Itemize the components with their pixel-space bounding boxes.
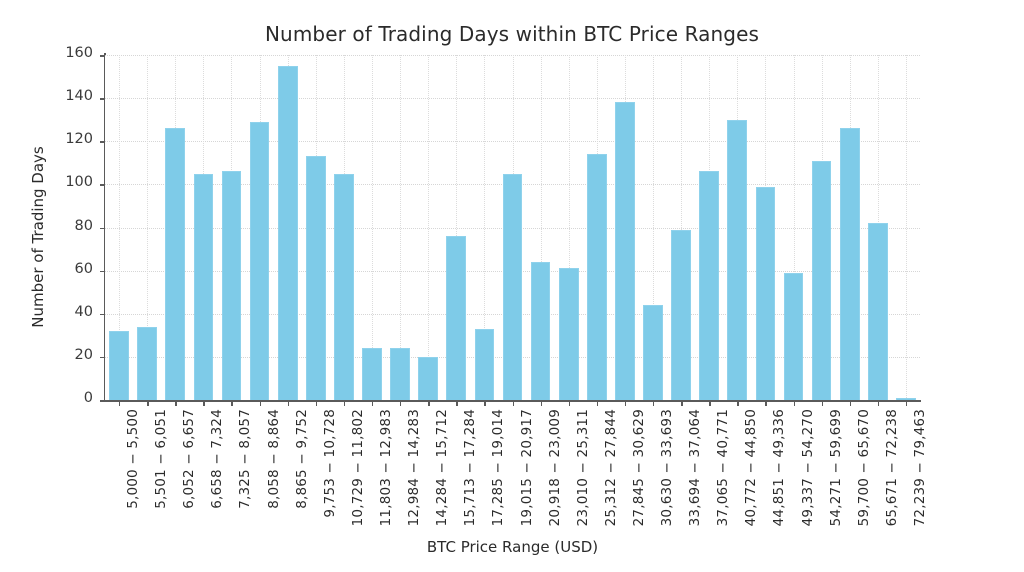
x-axis-tick-mark xyxy=(625,401,626,406)
x-axis-tick-mark xyxy=(765,401,766,406)
bar[interactable] xyxy=(306,156,326,400)
bar[interactable] xyxy=(222,171,242,400)
chart-title: Number of Trading Days within BTC Price … xyxy=(0,22,1024,46)
x-axis-tick-label: 65,671 − 72,238 xyxy=(884,409,900,526)
x-axis-tick-label: 27,845 − 30,629 xyxy=(631,409,647,526)
x-axis-tick-mark xyxy=(316,401,317,406)
bar[interactable] xyxy=(194,174,214,400)
x-axis-tick-mark xyxy=(119,401,120,406)
x-axis-tick-label: 9,753 − 10,728 xyxy=(322,409,338,518)
bar[interactable] xyxy=(165,128,185,400)
y-axis-tick-mark xyxy=(100,357,105,359)
x-axis-tick-mark xyxy=(484,401,485,406)
gridline-vertical xyxy=(906,55,907,400)
x-axis-tick-mark xyxy=(203,401,204,406)
bar[interactable] xyxy=(615,102,635,400)
y-axis-tick-label: 140 xyxy=(65,88,93,104)
x-axis-tick-mark xyxy=(822,401,823,406)
x-axis-tick-label: 37,065 − 40,771 xyxy=(715,409,731,526)
y-axis-tick-label: 80 xyxy=(75,218,93,234)
x-axis-tick-mark xyxy=(428,401,429,406)
x-axis-tick-mark xyxy=(231,401,232,406)
bar[interactable] xyxy=(334,174,354,400)
x-axis-tick-label: 17,285 − 19,014 xyxy=(490,409,506,526)
bar[interactable] xyxy=(643,305,663,400)
x-axis-tick-mark xyxy=(513,401,514,406)
y-axis-tick-mark xyxy=(100,141,105,143)
x-axis-tick-label: 5,501 − 6,051 xyxy=(153,409,169,509)
x-axis-tick-mark xyxy=(400,401,401,406)
y-axis-tick-mark xyxy=(100,228,105,230)
x-axis-tick-mark xyxy=(906,401,907,406)
y-axis-tick-mark xyxy=(100,314,105,316)
bar[interactable] xyxy=(531,262,551,400)
x-axis-tick-label: 30,630 − 33,693 xyxy=(659,409,675,526)
bar[interactable] xyxy=(503,174,523,400)
x-axis-tick-mark xyxy=(737,401,738,406)
y-axis-tick-label: 100 xyxy=(65,174,93,190)
bar[interactable] xyxy=(868,223,888,400)
bar[interactable] xyxy=(587,154,607,400)
bar[interactable] xyxy=(896,398,916,400)
x-axis-tick-mark xyxy=(456,401,457,406)
y-axis-tick-mark xyxy=(100,271,105,273)
y-axis-tick-label: 20 xyxy=(75,347,93,363)
bar[interactable] xyxy=(475,329,495,400)
x-axis-tick-mark xyxy=(878,401,879,406)
y-axis-tick-mark xyxy=(100,184,105,186)
x-axis-tick-label: 6,658 − 7,324 xyxy=(209,409,225,509)
x-axis-tick-label: 25,312 − 27,844 xyxy=(603,409,619,526)
x-axis-tick-label: 14,284 − 15,712 xyxy=(434,409,450,526)
y-axis-tick-mark xyxy=(100,400,105,402)
x-axis-tick-label: 8,865 − 9,752 xyxy=(294,409,310,509)
bar[interactable] xyxy=(756,187,776,400)
y-axis-title: Number of Trading Days xyxy=(29,137,47,337)
y-axis-tick-label: 120 xyxy=(65,131,93,147)
bar[interactable] xyxy=(109,331,129,400)
gridline-vertical xyxy=(428,55,429,400)
bar[interactable] xyxy=(727,120,747,400)
y-axis-tick-label: 160 xyxy=(65,45,93,61)
x-axis-tick-label: 54,271 − 59,699 xyxy=(828,409,844,526)
x-axis-tick-label: 8,058 − 8,864 xyxy=(266,409,282,509)
x-axis-tick-mark xyxy=(372,401,373,406)
x-axis-title: BTC Price Range (USD) xyxy=(105,538,920,556)
x-axis-tick-label: 33,694 − 37,064 xyxy=(687,409,703,526)
x-axis-tick-label: 12,984 − 14,283 xyxy=(406,409,422,526)
x-axis-tick-label: 23,010 − 25,311 xyxy=(575,409,591,526)
plot-area xyxy=(105,55,920,400)
x-axis-tick-mark xyxy=(653,401,654,406)
bar[interactable] xyxy=(671,230,691,400)
x-axis-tick-mark xyxy=(709,401,710,406)
x-axis-tick-label: 40,772 − 44,850 xyxy=(743,409,759,526)
bar[interactable] xyxy=(699,171,719,400)
bar[interactable] xyxy=(559,268,579,400)
x-axis-tick-label: 7,325 − 8,057 xyxy=(237,409,253,509)
bar[interactable] xyxy=(250,122,270,400)
x-axis-tick-label: 19,015 − 20,917 xyxy=(519,409,535,526)
x-axis-tick-mark xyxy=(288,401,289,406)
x-axis-tick-label: 6,052 − 6,657 xyxy=(181,409,197,509)
x-axis-tick-mark xyxy=(850,401,851,406)
x-axis-tick-label: 20,918 − 23,009 xyxy=(547,409,563,526)
x-axis-tick-label: 59,700 − 65,670 xyxy=(856,409,872,526)
x-axis-tick-mark xyxy=(569,401,570,406)
bar[interactable] xyxy=(137,327,157,400)
bar[interactable] xyxy=(278,66,298,400)
bar[interactable] xyxy=(390,348,410,400)
x-axis-tick-mark xyxy=(794,401,795,406)
bar[interactable] xyxy=(784,273,804,400)
x-axis-tick-label: 49,337 − 54,270 xyxy=(800,409,816,526)
x-axis-tick-mark xyxy=(260,401,261,406)
y-axis-tick-mark xyxy=(100,98,105,100)
bar[interactable] xyxy=(446,236,466,400)
x-axis-tick-label: 15,713 − 17,284 xyxy=(462,409,478,526)
y-axis-tick-label: 60 xyxy=(75,261,93,277)
y-axis-tick-label: 40 xyxy=(75,304,93,320)
x-axis-tick-label: 10,729 − 11,802 xyxy=(350,409,366,526)
y-axis-tick-mark xyxy=(100,55,105,57)
x-axis-tick-mark xyxy=(681,401,682,406)
bar[interactable] xyxy=(840,128,860,400)
x-axis-tick-label: 11,803 − 12,983 xyxy=(378,409,394,526)
x-axis-tick-label: 72,239 − 79,463 xyxy=(912,409,928,526)
bar[interactable] xyxy=(812,161,832,400)
bar[interactable] xyxy=(418,357,438,400)
x-axis-tick-mark xyxy=(175,401,176,406)
x-axis-tick-label: 44,851 − 49,336 xyxy=(771,409,787,526)
x-axis-tick-mark xyxy=(147,401,148,406)
chart-figure: Number of Trading Days within BTC Price … xyxy=(0,0,1024,572)
x-axis-tick-mark xyxy=(344,401,345,406)
x-axis-tick-label: 5,000 − 5,500 xyxy=(125,409,141,509)
y-axis-tick-label: 0 xyxy=(84,390,93,406)
x-axis-tick-mark xyxy=(597,401,598,406)
x-axis-tick-mark xyxy=(541,401,542,406)
bar[interactable] xyxy=(362,348,382,400)
